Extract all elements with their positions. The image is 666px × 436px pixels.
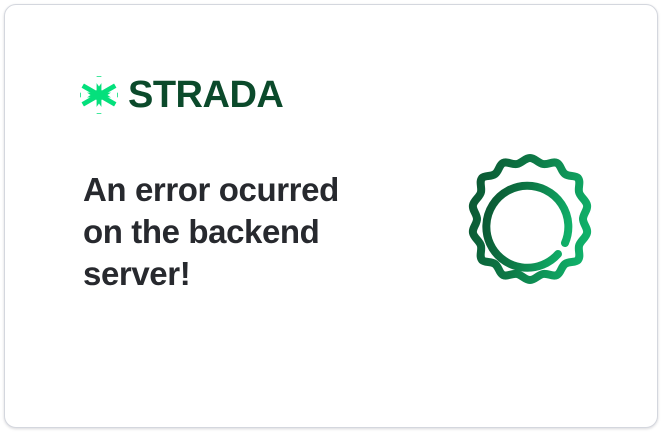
brand-lockup: STRADA bbox=[79, 75, 283, 115]
brand-wordmark: STRADA bbox=[128, 76, 283, 114]
gear-cog-icon bbox=[453, 148, 607, 302]
error-card: STRADA An error ocurred on the backend s… bbox=[4, 4, 658, 428]
strada-asterisk-icon bbox=[79, 75, 119, 115]
error-message: An error ocurred on the backend server! bbox=[83, 169, 383, 296]
